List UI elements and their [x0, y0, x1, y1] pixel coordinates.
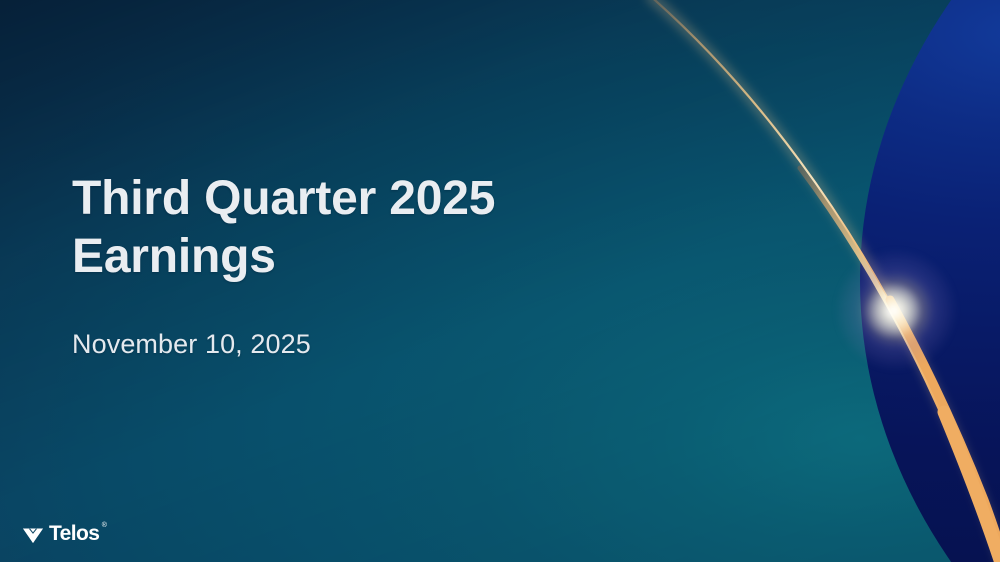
title-slide: Third Quarter 2025 Earnings November 10,…: [0, 0, 1000, 562]
registered-trademark-mark: ®: [102, 522, 107, 529]
title-block: Third Quarter 2025 Earnings November 10,…: [72, 170, 692, 361]
diamond-gem-icon: [22, 524, 44, 544]
telos-wordmark-text: Telos: [49, 522, 99, 545]
telos-logo: Telos®: [22, 523, 99, 544]
gold-arc-upper: [648, 0, 1000, 562]
gold-arc-glow: [648, 0, 1000, 562]
telos-wordmark: Telos®: [49, 523, 99, 544]
slide-date: November 10, 2025: [72, 286, 692, 360]
gold-arc-foot: [944, 412, 1000, 560]
page-title: Third Quarter 2025 Earnings: [72, 170, 692, 286]
gold-arc-mid: [800, 168, 1000, 562]
